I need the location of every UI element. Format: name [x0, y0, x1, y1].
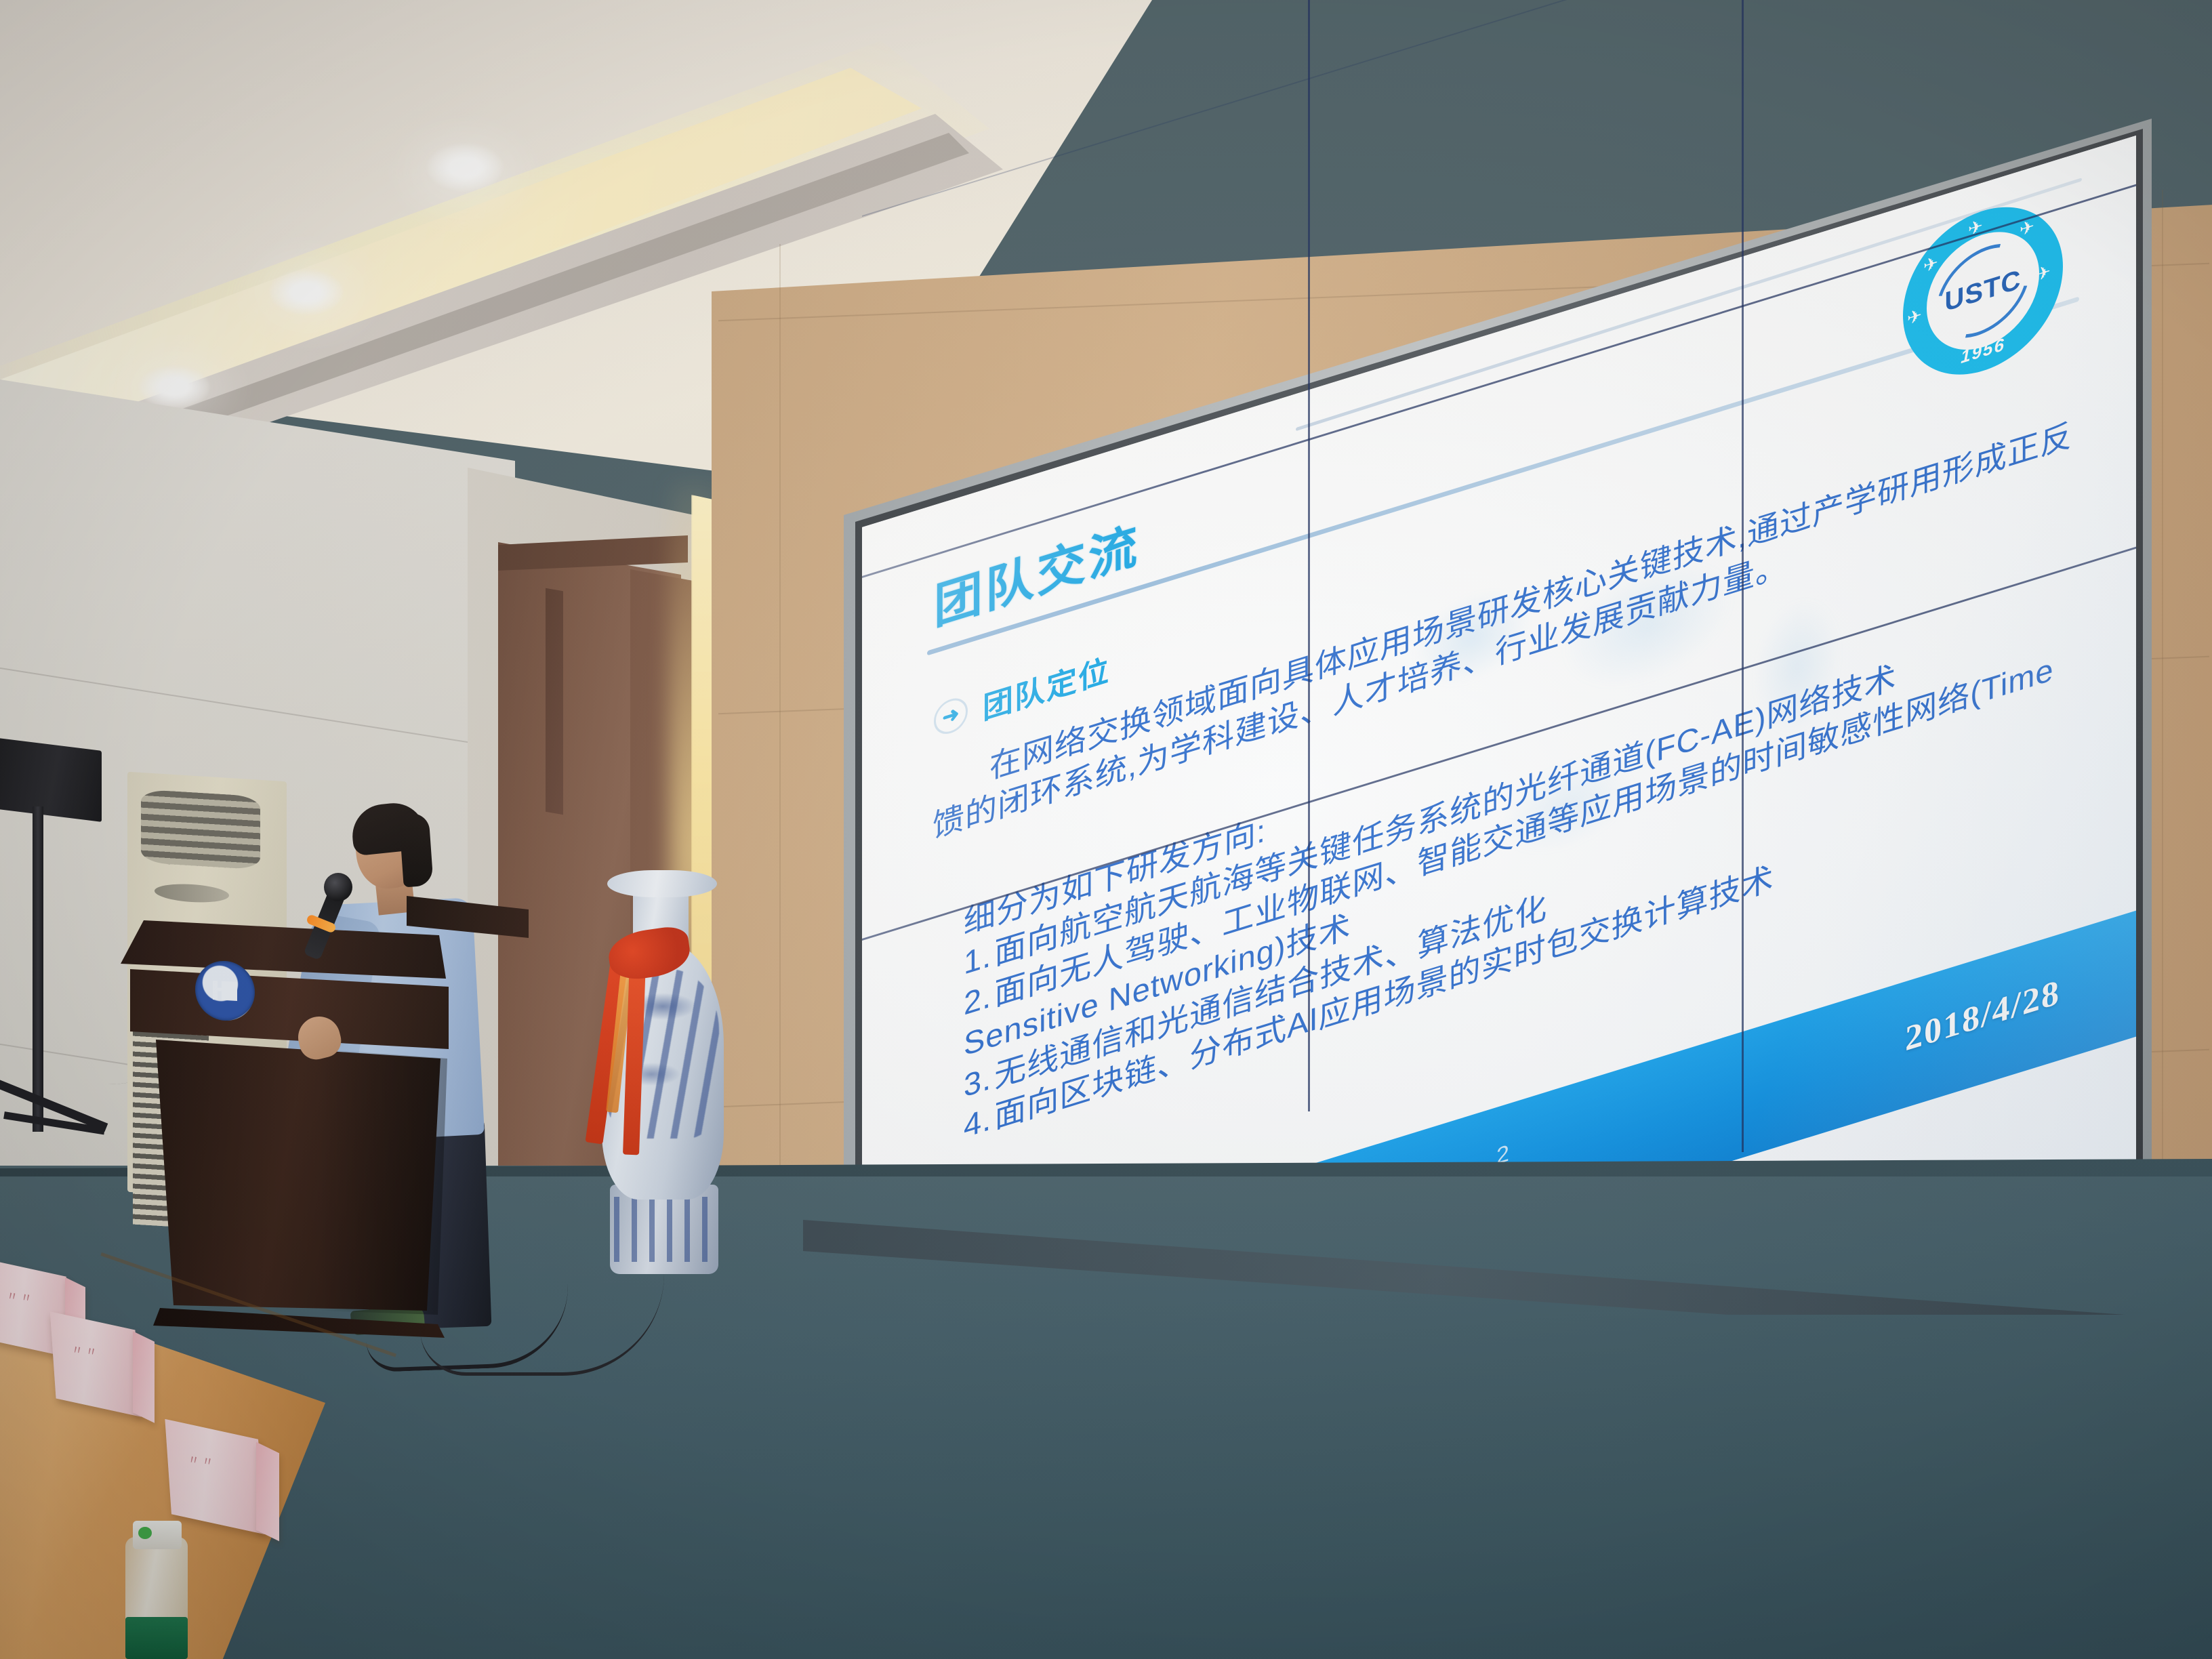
- microphone-head: [324, 873, 352, 901]
- arrow-right-icon: ➜: [934, 694, 968, 738]
- name-card-side: [256, 1442, 279, 1542]
- speaker-stand-pole: [33, 806, 43, 1132]
- name-card-glyphs: 〃〃: [5, 1286, 36, 1307]
- bird-icon: ✈: [1907, 304, 1922, 330]
- presenter-hair-back: [398, 813, 433, 888]
- ceiling-downlight-1: [427, 144, 503, 191]
- photo-scene: 团队交流 ➜ 团队定位 在网络交换领域面向具体应用场景研发核心关键技术,通过产学…: [0, 0, 2212, 1659]
- wood-panel-groove: [546, 588, 563, 815]
- name-card-glyphs: 〃〃: [70, 1340, 101, 1361]
- videowall-seam-vertical: [1742, 0, 1744, 1152]
- air-conditioner-grille: [141, 790, 260, 870]
- water-bottle-label: [125, 1617, 188, 1659]
- ceiling-downlight-3: [139, 366, 209, 408]
- list-item-number: 1.: [964, 937, 991, 981]
- videowall-seam-vertical: [1308, 0, 1310, 1111]
- list-item-number: 3.: [964, 1059, 991, 1104]
- name-card-side: [133, 1331, 155, 1423]
- list-item-number: 2.: [964, 977, 991, 1022]
- list-item-number: 4.: [964, 1100, 991, 1145]
- vase-foot-pattern: [614, 1197, 714, 1262]
- water-bottle-cap: [133, 1521, 182, 1549]
- footer-date: 2018/4/28: [1905, 972, 2060, 1059]
- vase-lip: [607, 870, 717, 897]
- name-card-glyphs: 〃〃: [186, 1450, 218, 1471]
- ceiling-downlight-2: [270, 270, 343, 314]
- wall-seam: [779, 244, 781, 1261]
- ustc-logo: ✈ ✈ ✈ ✈ ✈ USTC 1956: [1903, 186, 2063, 396]
